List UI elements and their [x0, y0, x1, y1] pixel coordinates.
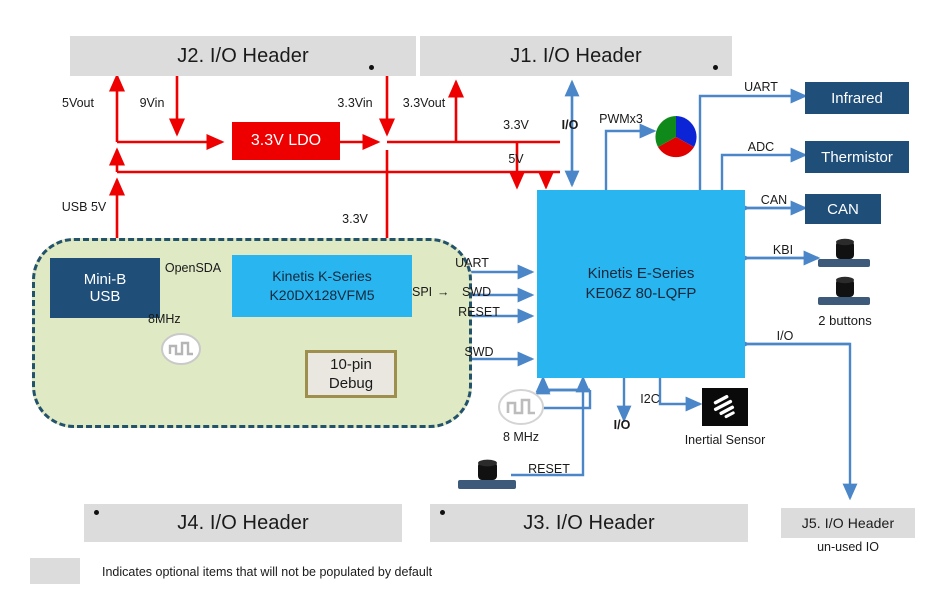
- pin1-dot-icon: [369, 65, 374, 70]
- header-j2[interactable]: J2. I/O Header: [70, 36, 416, 76]
- header-j5-label: J5. I/O Header: [802, 515, 894, 531]
- ldo-label: 3.3V LDO: [251, 132, 321, 150]
- caption-2-buttons: 2 buttons: [818, 313, 872, 328]
- block-can[interactable]: CAN: [805, 194, 881, 224]
- block-thermistor[interactable]: Thermistor: [805, 141, 909, 173]
- header-j2-label: J2. I/O Header: [177, 45, 308, 68]
- crystal-8mhz-main-icon: [497, 386, 545, 428]
- label-pwmx3: PWMx3: [599, 112, 643, 126]
- block-mini-b-usb[interactable]: Mini-B USB: [50, 258, 160, 318]
- legend-text: Indicates optional items that will not b…: [102, 565, 432, 579]
- label-kbi: KBI: [773, 243, 793, 257]
- label-8mhz-main: 8 MHz: [503, 430, 539, 444]
- thermistor-label: Thermistor: [821, 149, 893, 166]
- block-inertial-sensor[interactable]: [702, 388, 748, 426]
- label-swd-bottom: SWD: [464, 345, 493, 359]
- header-j5[interactable]: J5. I/O Header: [781, 508, 915, 538]
- block-kinetis-k-series[interactable]: Kinetis K-Series K20DX128VFM5: [232, 255, 412, 317]
- debug-label-line1: 10-pin: [330, 355, 372, 375]
- label-swd-top: SWD: [462, 285, 491, 299]
- label-io-top: I/O: [562, 118, 579, 132]
- caption-inertial-sensor: Inertial Sensor: [685, 433, 766, 447]
- push-button-icon[interactable]: [818, 238, 870, 268]
- header-j5-sublabel: un-used IO: [817, 540, 879, 554]
- label-opensda: OpenSDA: [165, 261, 221, 275]
- label-uart-mid: UART: [455, 256, 489, 270]
- label-9vin: 9Vin: [140, 96, 165, 110]
- label-io-bottom: I/O: [614, 418, 631, 432]
- debug-label-line2: Debug: [329, 374, 373, 394]
- pin1-dot-icon: [94, 510, 99, 515]
- label-spi-arrow-icon: →: [437, 285, 450, 299]
- pin1-dot-icon: [713, 65, 718, 70]
- label-3v3out: 3.3Vout: [403, 96, 445, 110]
- label-can-signal: CAN: [761, 193, 787, 207]
- header-j3[interactable]: J3. I/O Header: [430, 504, 748, 542]
- rgb-led-icon: [653, 116, 699, 158]
- usb-label-line1: Mini-B: [84, 271, 127, 288]
- block-diagram-canvas: J2. I/O Header J1. I/O Header 5Vout 9Vin…: [0, 0, 934, 600]
- inertial-sensor-icon: [702, 388, 748, 426]
- label-uart-right: UART: [744, 80, 778, 94]
- label-5v-to-mcu: 5V: [508, 152, 523, 166]
- eseries-label-line2: KE06Z 80-LQFP: [586, 284, 697, 304]
- reset-button-icon[interactable]: [458, 458, 516, 490]
- label-adc: ADC: [748, 140, 774, 154]
- push-button-icon[interactable]: [818, 276, 870, 306]
- block-kinetis-e-series[interactable]: Kinetis E-Series KE06Z 80-LQFP: [537, 190, 745, 378]
- label-spi: SPI: [412, 285, 432, 299]
- infrared-label: Infrared: [831, 90, 883, 107]
- usb-label-line2: USB: [90, 288, 121, 305]
- label-reset-mid: RESET: [458, 305, 500, 319]
- legend-swatch: [30, 558, 80, 584]
- label-3v3-to-kseries: 3.3V: [342, 212, 368, 226]
- label-usb-5v: USB 5V: [62, 200, 106, 214]
- pin1-dot-icon: [440, 510, 445, 515]
- label-5vout: 5Vout: [62, 96, 94, 110]
- label-io-right: I/O: [777, 329, 794, 343]
- label-8mhz-sda: 8MHz: [148, 312, 181, 326]
- header-j4[interactable]: J4. I/O Header: [84, 504, 402, 542]
- label-3v3in: 3.3Vin: [337, 96, 372, 110]
- crystal-8mhz-icon: [160, 330, 202, 368]
- kseries-label-line2: K20DX128VFM5: [269, 286, 374, 305]
- header-j4-label: J4. I/O Header: [177, 512, 308, 535]
- label-3v3-to-mcu: 3.3V: [503, 118, 529, 132]
- can-label: CAN: [827, 201, 859, 218]
- label-i2c: I2C: [640, 392, 659, 406]
- header-j1-label: J1. I/O Header: [510, 45, 641, 68]
- block-10pin-debug[interactable]: 10-pin Debug: [305, 350, 397, 398]
- header-j1[interactable]: J1. I/O Header: [420, 36, 732, 76]
- header-j3-label: J3. I/O Header: [523, 512, 654, 535]
- kseries-label-line1: Kinetis K-Series: [272, 267, 372, 286]
- label-reset-bottom: RESET: [528, 462, 570, 476]
- eseries-label-line1: Kinetis E-Series: [588, 264, 695, 284]
- block-3v3-ldo[interactable]: 3.3V LDO: [232, 122, 340, 160]
- block-infrared[interactable]: Infrared: [805, 82, 909, 114]
